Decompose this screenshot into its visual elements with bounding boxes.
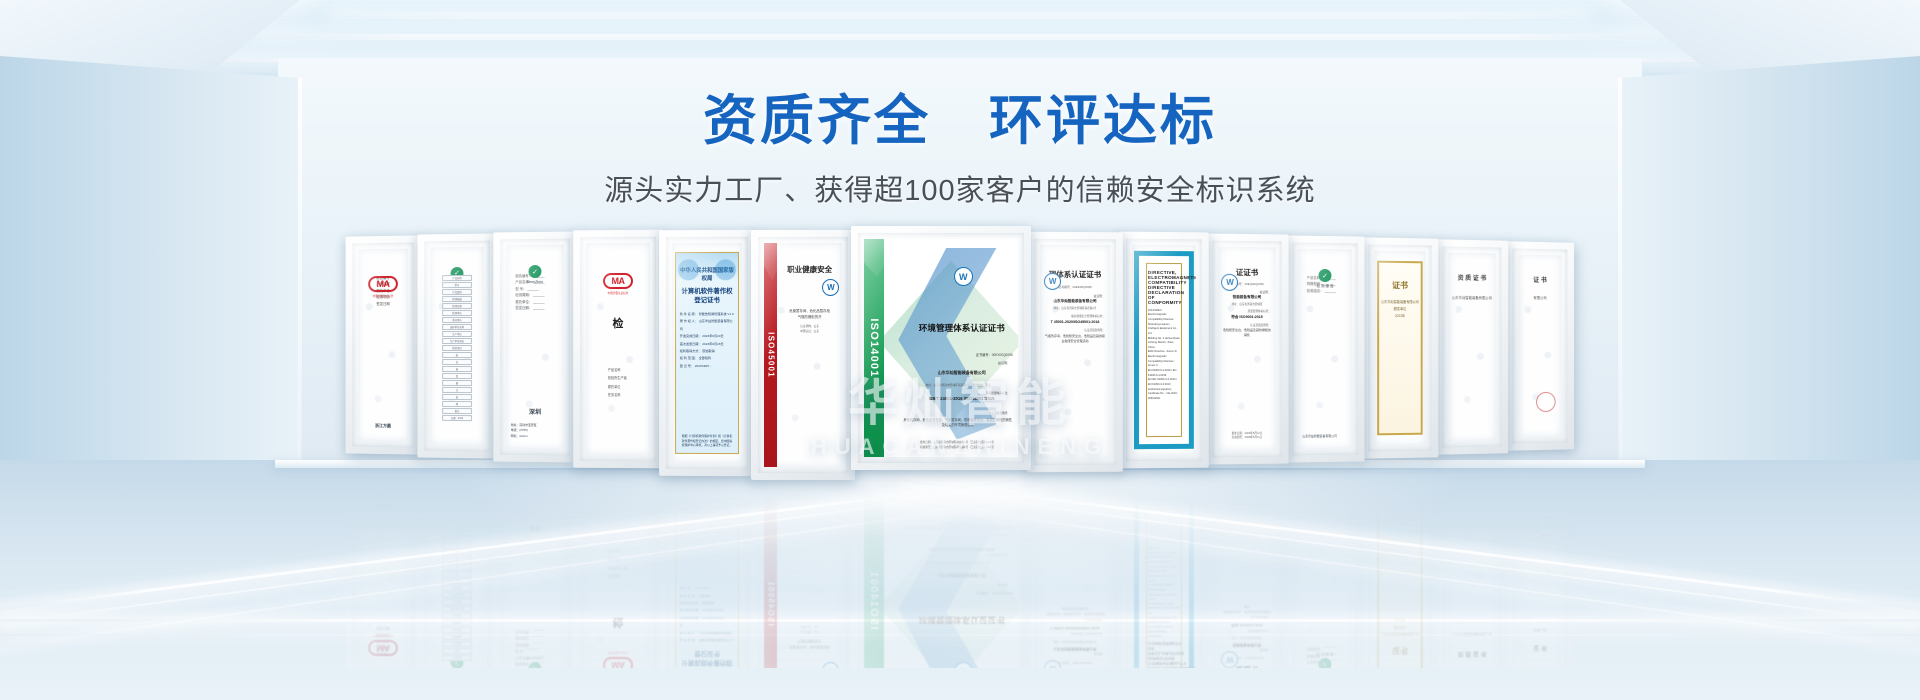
certificate-mat: MA中国计量认证标志报告编号产品名称委托单位检测项目签发日期浙江方圆 xyxy=(352,485,413,690)
table-row: 型号 xyxy=(442,648,472,654)
cert-footer-line: 有效期至：山东省济南市历城区荷花路1号（工业园大道）401 室 xyxy=(903,446,1012,451)
cert-footer-line: 有效期至：山东省济南市历城区荷花路1号（工业园大道）401 室 xyxy=(903,498,1012,503)
cert-footer-lines: 地址：深圳市宝安区电话：(0755)网址：www.s xyxy=(511,501,562,517)
cert-scope-line: 危废暂存间、危化品暂存柜 xyxy=(782,644,837,650)
cert-company: 山东华灿智能装备有限公司 xyxy=(911,370,1013,376)
table-row: 论 xyxy=(442,571,472,577)
certificate-paper: ✓Shenzhen产品名称型号产品类别检测依据检测日期检测单位委托单位送样单位名… xyxy=(430,491,484,690)
ceiling-light-strip-1 xyxy=(330,12,1590,19)
table-row: 说 xyxy=(442,394,472,400)
certificate-mat: ✓ShenZhen报告编号： ______产品名称： ______型 号： __… xyxy=(500,239,570,456)
certificate-frame[interactable]: ✓ShenZhen报告编号： ______产品名称： ______型 号： __… xyxy=(493,232,577,463)
cert-body-lines: 2014/30/EU Electromagnetic Compatibility… xyxy=(1148,544,1180,637)
cert-line: 2023年 xyxy=(1379,616,1421,623)
cert-scope-label: 认证范围及场所： xyxy=(1045,328,1105,332)
table-row: 明 xyxy=(442,401,472,407)
cert-standard-label: 环境管理体系标准： xyxy=(986,391,1010,395)
table-row: 日期：2023 xyxy=(442,515,472,521)
cert-scope-label: 认证范围及场所： xyxy=(1045,618,1105,622)
table-row: 注 xyxy=(442,543,472,549)
headings-block: 资质齐全 环评达标 源头实力工厂、获得超100家客户的信赖安全标识系统 xyxy=(0,92,1920,209)
cert-company: 山东华灿智能装备有限公司 xyxy=(1448,294,1495,299)
cert-line: 山东华灿智能装备有限公司 xyxy=(1379,630,1421,637)
honor-certificate: 证书山东华灿智能装备有限公司颁发单位2023年 xyxy=(1377,260,1423,435)
certificate-mat: MA中国计量认证标志检产品名称检验所生产者委托单位任务名称 xyxy=(580,485,656,700)
cert-body-line: Certificate No. : CE-2023-0069-EMC xyxy=(1148,544,1180,553)
cert-field: 首次发表日期： 2023年6月28日 xyxy=(680,341,734,348)
table-row: 注 xyxy=(442,387,472,393)
certificate-paper: 资 质 证 书山东华灿智能装备有限公司 xyxy=(1448,253,1495,442)
iso-standard-label: ISO45001 xyxy=(766,580,775,626)
certificate-paper: ISO14001W环境管理体系认证证书证书编号：00EX00Q0095兹证明：山… xyxy=(864,239,1018,457)
certification-seal-icon: W xyxy=(822,279,839,296)
certificate-mat: MA中国计量认证标志报告编号产品名称委托单位检测项目签发日期浙江方圆 xyxy=(352,243,413,448)
table-row: 送样单位名称 xyxy=(442,324,472,330)
certificate-mat: 资 质 证 书山东华灿智能装备有限公司 xyxy=(1442,246,1501,447)
certificate-mat: DIRECTIVE,ELECTROMAGNETIC COMPATIBILITY … xyxy=(1126,239,1202,462)
cert-field: 软 件 名 称： 智能告知牌管理系统 V1.0 xyxy=(680,311,734,318)
cert-number: 证书编号：00EX00Q0095 xyxy=(911,352,1013,357)
cert-line: 2023年 xyxy=(1379,312,1421,319)
cert-field: 签发日期： ______ xyxy=(515,305,564,312)
iso-standard-label: ISO45001 xyxy=(766,332,775,378)
certificate-mat: ✓检 测 报 告产品名称： ______规格型号： ______检验结论： __… xyxy=(1292,485,1358,698)
cert-company-label: 兹证明： xyxy=(1045,294,1105,298)
certificate-frame-reflection: MA中国计量认证标志检产品名称检验所生产者委托单位任务名称 xyxy=(573,478,663,700)
cert-scope-line: 气瓶防爆柜的开 xyxy=(782,314,837,320)
cert-standard: GB/T 24001-2016 /ISO14001:2015 xyxy=(911,547,1013,552)
certificate-frame[interactable]: DIRECTIVE,ELECTROMAGNETIC COMPATIBILITY … xyxy=(1119,232,1209,469)
cert-field: 开发完成日期： 2023年6月20日 xyxy=(680,613,734,620)
cert-field: 产品名称 xyxy=(608,366,646,374)
cert-company-label: 兹证明： xyxy=(998,361,1010,365)
certificate-frame[interactable]: 资 质 证 书山东华灿智能装备有限公司 xyxy=(1435,239,1508,454)
cert-org: ShenZhen xyxy=(527,656,544,660)
certificate-frame-reflection: ISO45001W职业健康安全兹证明危废暂存间、危化品暂存柜气瓶防爆柜的开认证机… xyxy=(751,478,855,700)
cert-standard-label: 质量管理体系标准： xyxy=(1223,629,1271,633)
cert-scope: 危废暂存间、危化品暂存柜气瓶防爆柜的开 xyxy=(782,308,837,320)
cert-footer-line: 山东华灿智能装备有限公司 xyxy=(1302,501,1349,507)
cert-field: 权利取得方式： 原始取得 xyxy=(680,348,734,355)
cert-company-label: 兹证明： xyxy=(1045,652,1105,656)
cert-scope-label: 认证范围及场所： xyxy=(988,533,1010,537)
cert-footer-line: 网址：www.s xyxy=(511,501,562,507)
cert-address: 地址：山东省济南市历城区荷花路1号 / 注册地址：同上 xyxy=(905,383,1011,387)
cert-footer-line: 认证机构：山东 xyxy=(782,629,837,634)
accreditation-badge-icon: ✓ xyxy=(1319,269,1332,282)
cert-field: 委托单位 xyxy=(608,555,646,563)
certificate-mat: W理体系认证证书证书编号：00ED00Q0095兹证明：山东华灿智能装备有限公司… xyxy=(1034,239,1116,465)
table-row: 备注 xyxy=(442,408,472,414)
cert-body: W证证书证书编号：00EQ00Q0095兹证明：智能装备有限公司地址：山东省济南… xyxy=(1218,247,1276,452)
cert-company: 山东华灿智能装备有限公司 xyxy=(1448,632,1495,637)
certificate-frame[interactable]: MA中国计量认证标志报告编号产品名称委托单位检测项目签发日期浙江方圆 xyxy=(346,235,421,454)
cert-footer-lines: 地址：深圳市宝安区电话：(0755)网址：www.s xyxy=(511,423,562,439)
table-row: 产品类别 xyxy=(442,289,472,295)
cert-scope-label: 认证范围及场所： xyxy=(988,411,1010,415)
title-part-1: 资质齐全 xyxy=(703,91,931,151)
cert-footer-line: 批准日期：山东省济南市历城区荷花路1号（工业园大道）401 室 xyxy=(903,502,1012,507)
cert-body-line: EN IEC 61000-3-2:2019 / EN 61000-3-3:201… xyxy=(1148,378,1180,387)
ma-mark-icon: MA xyxy=(368,640,398,656)
cert-footer-line: 中国认证：山东 xyxy=(782,624,837,629)
cert-footer: 根据《计算机软件保护条例》和《计算机软件著作权登记办法》的规定，经中国版权保护中… xyxy=(682,434,732,448)
cert-body-line: Shandong Huacan Intelligent Equipment Co… xyxy=(1148,609,1180,623)
certificate-mat: ✓Shenzhen产品名称型号产品类别检测依据检测日期检测单位委托单位送样单位名… xyxy=(424,241,490,452)
table-row: 见 xyxy=(442,373,472,379)
cert-field: 检验所生产者 xyxy=(608,374,646,382)
cert-title: 证书 xyxy=(1379,645,1421,656)
certificate-paper: 中华人民共和国国家版权局计算机软件著作权登记证书软 件 名 称： 智能告知牌管理… xyxy=(672,243,742,463)
certificate-paper: ✓检 测 报 告产品名称： ______规格型号： ______检验结论： __… xyxy=(1298,491,1352,692)
cert-footer-lines: 山东华灿智能装备有限公司 xyxy=(1302,434,1349,440)
cert-footer: 根据《计算机软件保护条例》和《计算机软件著作权登记办法》的规定，经中国版权保护中… xyxy=(682,506,732,520)
cert-footer-line: 地址：深圳市宝安区 xyxy=(511,511,562,517)
cert-footer-line: 有效期至：2026年5月11日 xyxy=(1222,436,1273,441)
cert-body-line: Building No. 1 Hehua Road, Licheng Distr… xyxy=(1148,336,1180,350)
cert-body: DIRECTIVE,ELECTROMAGNETIC COMPATIBILITY … xyxy=(1143,544,1185,686)
cert-title: 检 xyxy=(586,615,650,631)
ce-declaration: DIRECTIVE,ELECTROMAGNETIC COMPATIBILITY … xyxy=(1134,497,1194,695)
cert-body: W理体系认证证书证书编号：00ED00Q0095兹证明：山东华灿智能装备有限公司… xyxy=(1040,245,1110,459)
cert-address: 地址：山东省济南市历城区荷花路1号 xyxy=(1045,306,1105,310)
cert-company: 山东华灿智能装备有限公司 xyxy=(1045,299,1105,304)
certificate-frame-reflection: 证书山东华灿智能装备有限公司颁发单位2023年 xyxy=(1361,477,1438,698)
certificate-paper: ✓检 测 报 告产品名称： ______规格型号： ______检验结论： __… xyxy=(1298,249,1352,450)
cert-title-line-1: DIRECTIVE, xyxy=(1148,269,1180,274)
certificate-paper: ✓Shenzhen产品名称型号产品类别检测依据检测日期检测单位委托单位送样单位名… xyxy=(430,247,484,446)
cert-footer: 批准日期：山东省济南市历城区荷花路1号（工业园大道）401 室有效期至：山东省济… xyxy=(903,498,1012,507)
certificate-frame[interactable]: 证 书有限公司 xyxy=(1505,241,1574,451)
certificate-paper: 证书山东华灿智能装备有限公司颁发单位2023年 xyxy=(1374,491,1425,686)
ceiling-light-strip-2 xyxy=(240,34,1680,40)
cert-field: 开发完成日期： 2023年6月20日 xyxy=(680,333,734,340)
iso-standard-label: ISO14001 xyxy=(868,318,880,377)
cert-scope-line: 危废暂存间、危化品暂存柜 xyxy=(782,308,837,314)
cert-scope: 危险柜安全台、危险品及其防爆柜的销售 xyxy=(1223,328,1271,338)
cert-title: 证 书 xyxy=(1518,275,1561,285)
ma-mark-icon: MA xyxy=(368,276,398,292)
cert-line: 山东华灿智能装备有限公司 xyxy=(1379,298,1421,305)
cert-field: 检验所生产者 xyxy=(608,563,646,571)
certificate-mat: 证书山东华灿智能装备有限公司颁发单位2023年 xyxy=(1368,484,1431,691)
table-row: 检验项目 xyxy=(442,585,472,591)
table-row: 论 xyxy=(442,359,472,365)
ceiling-inset xyxy=(190,0,1730,62)
cert-field: 签发日期： ______ xyxy=(515,628,564,635)
cert-field: 签发日期 xyxy=(358,301,408,308)
certificate-frame[interactable]: 中华人民共和国国家版权局计算机软件著作权登记证书软 件 名 称： 智能告知牌管理… xyxy=(659,230,755,476)
copyright-certificate: 中华人民共和国国家版权局计算机软件著作权登记证书软 件 名 称： 智能告知牌管理… xyxy=(675,252,739,455)
iso-standard-label: ISO14001 xyxy=(868,570,880,629)
red-seal-stamp-icon xyxy=(1536,516,1556,536)
cert-scope: 危废暂存间、危化品暂存柜、气瓶暂存间、防爆柜安全台、智能防爆柜的销售及相关的环境… xyxy=(903,519,1013,530)
table-row: 明 xyxy=(442,529,472,535)
cert-footer: 浙江方圆 xyxy=(358,423,408,430)
cert-scope: 气瓶暂存间、危险柜安全台、危险品及其的职业健康安全管理活动 xyxy=(1045,334,1105,344)
certificate-paper: W证证书证书编号：00EQ00Q0095兹证明：智能装备有限公司地址：山东省济南… xyxy=(1218,247,1276,452)
table-row: 产品类别 xyxy=(442,641,472,647)
cert-field: 权利取得方式： 原始取得 xyxy=(680,599,734,606)
table-row: 意 xyxy=(442,564,472,570)
page-subtitle: 源头实力工厂、获得超100家客户的信赖安全标识系统 xyxy=(0,167,1920,209)
cert-footer: 认证机构：山东中国认证：山东 xyxy=(782,624,837,634)
cert-address: 地址：山东省济南市历城区 xyxy=(1223,302,1271,306)
cert-title-line-2: ELECTROMAGNETIC COMPATIBILITY DIRECTIVE xyxy=(1148,274,1180,289)
cert-body-line: Certificate No. : CE-2023-0069-EMC xyxy=(1148,392,1180,401)
cert-field-list: 软 件 名 称： 智能告知牌管理系统 V1.0著 作 权 人： 山东华灿智能装备… xyxy=(680,584,734,643)
cert-field: 权 利 范 围： 全部权利 xyxy=(680,355,734,362)
table-row: 见 xyxy=(442,557,472,563)
cert-field: 软 件 名 称： 智能告知牌管理系统 V1.0 xyxy=(680,636,734,643)
table-row: 检测依据 xyxy=(442,296,472,302)
certificate-frame[interactable]: ✓Shenzhen产品名称型号产品类别检测依据检测日期检测单位委托单位送样单位名… xyxy=(417,233,497,458)
cert-standard-label: 环境管理体系标准： xyxy=(986,554,1010,558)
cert-lines: 山东华灿智能装备有限公司颁发单位2023年 xyxy=(1379,298,1421,319)
certificate-mat: W证证书证书编号：00EQ00Q0095兹证明：智能装备有限公司地址：山东省济南… xyxy=(1212,241,1282,458)
cert-footer-line: 网址：www.s xyxy=(511,433,562,439)
table-row: 检验项目 xyxy=(442,345,472,351)
table-row: 生产单位 xyxy=(442,599,472,605)
ma-mark-icon: MA xyxy=(603,273,633,289)
table-row: 检测日期 xyxy=(442,627,472,633)
cert-title: 证书 xyxy=(1379,280,1421,291)
cert-standard: T 45001-2020/ISO45001:2018 xyxy=(1045,626,1105,630)
cert-footer: 认证机构：山东中国认证：山东 xyxy=(782,324,837,334)
cert-title: 环境管理体系认证证书 xyxy=(911,614,1013,626)
cert-body-line: Shandong Huacan Intelligent Equipment Co… xyxy=(1148,323,1180,337)
cert-field-list: 产品名称检验所生产者委托单位任务名称 xyxy=(608,547,646,580)
cert-title: 职业健康安全 xyxy=(782,264,837,275)
cert-org: 检 测 报 告 xyxy=(1316,651,1333,656)
cert-field: 任务名称 xyxy=(608,391,646,399)
certification-seal-icon: W xyxy=(1222,273,1239,290)
cert-body-line: Authorised signatory xyxy=(1148,554,1180,559)
honor-certificate: 证书山东华灿智能装备有限公司颁发单位2023年 xyxy=(1377,500,1423,675)
cert-company: 山东华灿智能装备有限公司 xyxy=(911,572,1013,578)
certificate-frame[interactable]: W理体系认证证书证书编号：00ED00Q0095兹证明：山东华灿智能装备有限公司… xyxy=(1027,232,1123,473)
table-row: 备注 xyxy=(442,522,472,528)
table-row: 检测日期 xyxy=(442,303,472,309)
cert-field: 产品名称 xyxy=(608,572,646,580)
ma-mark-caption: 中国计量认证标志 xyxy=(608,651,629,655)
certificate-mat: DIRECTIVE,ELECTROMAGNETIC COMPATIBILITY … xyxy=(1126,485,1202,700)
cert-standard: 符合 ISO9001:2015 xyxy=(1223,315,1271,320)
cert-body-line: Electromagnetic Compatibility Directive … xyxy=(1148,577,1180,591)
cert-body-line: EN 61000-6-2:2019 / EN 61000-6-4:2019 xyxy=(1148,568,1180,577)
cert-address: 地址：山东省济南市历城区荷花路1号 xyxy=(1045,640,1105,644)
cert-company: 有限公司 xyxy=(1518,628,1561,633)
cert-field: 签发日期 xyxy=(358,625,408,632)
certificate-mat: ISO14001W环境管理体系认证证书证书编号：00EX00Q0095兹证明：山… xyxy=(858,485,1024,700)
certificate-frame[interactable]: ISO14001W环境管理体系认证证书证书编号：00EX00Q0095兹证明：山… xyxy=(851,226,1031,470)
cert-body-line: 2014/30/EU Electromagnetic Compatibility… xyxy=(1148,309,1180,323)
certificate-mat: ISO45001W职业健康安全兹证明危废暂存间、危化品暂存柜气瓶防爆柜的开认证机… xyxy=(758,485,848,700)
banner-stage: 资质齐全 环评达标 源头实力工厂、获得超100家客户的信赖安全标识系统 MA中国… xyxy=(0,0,1920,700)
cert-body: W证证书证书编号：00EQ00Q0095兹证明：智能装备有限公司地址：山东省济南… xyxy=(1218,491,1276,696)
table-row: 备 xyxy=(442,550,472,556)
ce-declaration: DIRECTIVE,ELECTROMAGNETIC COMPATIBILITY … xyxy=(1134,251,1194,449)
certificate-paper: W证证书证书编号：00EQ00Q0095兹证明：智能装备有限公司地址：山东省济南… xyxy=(1218,491,1276,696)
accreditation-badge-icon: ✓ xyxy=(529,265,542,278)
certificate-mat: ISO14001W环境管理体系认证证书证书编号：00EX00Q0095兹证明：山… xyxy=(858,233,1024,463)
certificate-paper: 证 书有限公司 xyxy=(1518,491,1561,674)
cert-company-label: 兹证明： xyxy=(998,583,1010,587)
table-row: 检测依据 xyxy=(442,634,472,640)
cert-field: 著 作 权 人： 山东华灿智能装备有限公司 xyxy=(680,318,734,333)
title-part-2: 环评达标 xyxy=(989,91,1217,151)
table-row: 产品名称 xyxy=(442,655,472,661)
cert-body: W环境管理体系认证证书证书编号：00EX00Q0095兹证明：山东华灿智能装备有… xyxy=(884,239,1018,457)
cert-scope: 气瓶暂存间、危险柜安全台、危险品及其的职业健康安全管理活动 xyxy=(1045,606,1105,616)
cert-body-line: Electromagnetic Compatibility Directive … xyxy=(1148,355,1180,369)
certificate-frame[interactable]: MA中国计量认证标志检产品名称检验所生产者委托单位任务名称 xyxy=(573,230,663,469)
cert-title: 计算机软件著作权登记证书 xyxy=(680,286,734,304)
cert-body-line: EN IEC 61000-3-2:2019 / EN 61000-3-3:201… xyxy=(1148,558,1180,567)
table-row: 生产单位地址 xyxy=(442,338,472,344)
certificate-paper: MA中国计量认证标志报告编号产品名称委托单位检测项目签发日期浙江方圆 xyxy=(358,249,408,442)
certificate-paper: ISO45001W职业健康安全兹证明危废暂存间、危化品暂存柜气瓶防爆柜的开认证机… xyxy=(764,243,842,467)
cert-standard-label: 职业健康安全管理体系标准： xyxy=(1045,632,1105,636)
cert-standard-label: 质量管理体系标准： xyxy=(1223,309,1271,313)
certificate-frame-reflection: 证 书有限公司 xyxy=(1505,477,1574,687)
cert-footer-title: 深圳 xyxy=(506,407,564,416)
cert-field-list: 软 件 名 称： 智能告知牌管理系统 V1.0著 作 权 人： 山东华灿智能装备… xyxy=(680,311,734,370)
certificate-mat: 资 质 证 书山东华灿智能装备有限公司 xyxy=(1442,484,1501,685)
certificate-frame-reflection: MA中国计量认证标志报告编号产品名称委托单位检测项目签发日期浙江方圆 xyxy=(346,477,421,696)
cert-scope-label: 认证范围及场所： xyxy=(1223,323,1271,327)
certificate-paper: 证书山东华灿智能装备有限公司颁发单位2023年 xyxy=(1374,251,1425,446)
table-row: 委托单位 xyxy=(442,317,472,323)
certificate-frame-reflection: DIRECTIVE,ELECTROMAGNETIC COMPATIBILITY … xyxy=(1119,478,1209,700)
certificate-paper: W理体系认证证书证书编号：00ED00Q0095兹证明：山东华灿智能装备有限公司… xyxy=(1040,245,1110,459)
cert-scope: 危险柜安全台、危险品及其防爆柜的销售 xyxy=(1223,604,1271,614)
certificate-paper: 资 质 证 书山东华灿智能装备有限公司 xyxy=(1448,491,1495,680)
table-row: 生产单位地址 xyxy=(442,592,472,598)
iso-spine: ISO14001 xyxy=(864,239,884,457)
certificate-gallery: MA中国计量认证标志报告编号产品名称委托单位检测项目签发日期浙江方圆✓Shenz… xyxy=(290,230,1630,480)
cert-body: W职业健康安全兹证明危废暂存间、危化品暂存柜气瓶防爆柜的开认证机构：山东中国认证… xyxy=(777,243,842,467)
cert-body-line: Building No. 1 Hehua Road, Licheng Distr… xyxy=(1148,596,1180,610)
certificate-mat: 中华人民共和国国家版权局计算机软件著作权登记证书软 件 名 称： 智能告知牌管理… xyxy=(666,485,748,700)
cert-footer-line: 电话：(0755) xyxy=(511,506,562,512)
certificate-mat: 中华人民共和国国家版权局计算机软件著作权登记证书软 件 名 称： 智能告知牌管理… xyxy=(666,237,748,469)
cert-title-line-3: DECLARATION OF CONFORMITY xyxy=(1148,290,1180,305)
table-row: 送样单位名称 xyxy=(442,606,472,612)
cert-body-lines: 2014/30/EU Electromagnetic Compatibility… xyxy=(1148,309,1180,402)
certificate-frame-reflection: ✓Shenzhen产品名称型号产品类别检测依据检测日期检测单位委托单位送样单位名… xyxy=(417,477,497,700)
cert-title: 检 xyxy=(586,315,650,331)
red-seal-stamp-icon xyxy=(1536,391,1556,411)
cert-org: 检 测 报 告 xyxy=(1316,284,1333,289)
cert-title: 证 书 xyxy=(1518,643,1561,653)
table-row: 说 xyxy=(442,536,472,542)
certificate-paper: ✓ShenZhen报告编号： ______产品名称： ______型 号： __… xyxy=(506,245,564,450)
cert-standard: 符合 ISO9001:2015 xyxy=(1223,622,1271,627)
certificate-mat: 证 书有限公司 xyxy=(1512,248,1567,443)
cert-lines: 山东华灿智能装备有限公司颁发单位2023年 xyxy=(1379,616,1421,637)
cert-field-list: 产品名称检验所生产者委托单位任务名称 xyxy=(608,366,646,399)
cert-field-list: 报告编号： ______产品名称： ______型 号： ______检测周期：… xyxy=(506,273,564,312)
table-row: 生产单位 xyxy=(442,331,472,337)
cert-field: 登 记 号： 2023SR07... xyxy=(680,584,734,591)
cert-footer-title: 深圳 xyxy=(506,523,564,532)
certificate-frame-reflection: ✓ShenZhen报告编号： ______产品名称： ______型 号： __… xyxy=(493,478,577,700)
certificate-frame[interactable]: 证书山东华灿智能装备有限公司颁发单位2023年 xyxy=(1361,237,1438,458)
cert-standard: T 45001-2020/ISO45001:2018 xyxy=(1045,320,1105,324)
cert-body-line: 2014/30/EU Electromagnetic Compatibility… xyxy=(1148,623,1180,637)
cert-address: 地址：山东省济南市历城区 xyxy=(1223,636,1271,640)
table-row: 意 xyxy=(442,366,472,372)
certificate-gallery-reflection: MA中国计量认证标志报告编号产品名称委托单位检测项目签发日期浙江方圆✓Shenz… xyxy=(290,478,1630,668)
ornament-band xyxy=(676,253,738,281)
cert-parameter-table: 产品名称型号产品类别检测依据检测日期检测单位委托单位送样单位名称生产单位生产单位… xyxy=(442,275,472,414)
certificate-paper: ✓ShenZhen报告编号： ______产品名称： ______型 号： __… xyxy=(506,491,564,696)
cert-footer-line: 中国认证：山东 xyxy=(782,329,837,334)
table-row: 备 xyxy=(442,380,472,386)
certificate-frame[interactable]: W证证书证书编号：00EQ00Q0095兹证明：智能装备有限公司地址：山东省济南… xyxy=(1205,234,1289,465)
certificate-frame[interactable]: ISO45001W职业健康安全兹证明危废暂存间、危化品暂存柜气瓶防爆柜的开认证机… xyxy=(751,230,855,480)
cert-company: 有限公司 xyxy=(1518,295,1561,300)
cert-footer-lines: 山东华灿智能装备有限公司 xyxy=(1302,501,1349,507)
certificate-frame-reflection: W理体系认证证书证书编号：00ED00Q0095兹证明：山东华灿智能装备有限公司… xyxy=(1027,478,1123,700)
iso-spine: ISO45001 xyxy=(764,243,777,467)
cert-org: ShenZhen xyxy=(527,280,544,284)
cert-company: 智能装备有限公司 xyxy=(1223,295,1271,300)
cert-company: 智能装备有限公司 xyxy=(1223,641,1271,646)
table-row: 结 xyxy=(442,578,472,584)
certificate-frame-reflection: W证证书证书编号：00EQ00Q0095兹证明：智能装备有限公司地址：山东省济南… xyxy=(1205,478,1289,700)
table-row: 产品名称 xyxy=(442,275,472,281)
certificate-mat: ISO45001W职业健康安全兹证明危废暂存间、危化品暂存柜气瓶防爆柜的开认证机… xyxy=(758,237,848,473)
cert-field: 登 记 号： 2023SR07... xyxy=(680,363,734,370)
certificate-frame[interactable]: ✓检 测 报 告产品名称： ______规格型号： ______检验结论： __… xyxy=(1285,235,1364,462)
certificate-paper: DIRECTIVE,ELECTROMAGNETIC COMPATIBILITY … xyxy=(1132,245,1196,456)
cert-number: 证书编号：00EX00Q0095 xyxy=(911,591,1013,596)
cert-field: 著 作 权 人： 山东华灿智能装备有限公司 xyxy=(680,621,734,636)
cert-body: DIRECTIVE,ELECTROMAGNETIC COMPATIBILITY … xyxy=(1143,260,1185,402)
cert-footer-line: 有效期至：2026年5月11日 xyxy=(1222,501,1273,506)
cert-body-line: EMC Directive : Annex III xyxy=(1148,591,1180,596)
cert-footer: 批准日期：2023年5月12日有效期至：2026年5月11日 xyxy=(1222,431,1273,441)
certificate-frame-reflection: ✓检 测 报 告产品名称： ______规格型号： ______检验结论： __… xyxy=(1285,477,1364,700)
cert-title: 资 质 证 书 xyxy=(1448,273,1495,283)
cert-address: 地址：山东省济南市历城区荷花路1号 / 注册地址：同上 xyxy=(905,561,1011,565)
certificate-frame-reflection: 中华人民共和国国家版权局计算机软件著作权登记证书软 件 名 称： 智能告知牌管理… xyxy=(659,478,755,700)
ma-mark-caption: 中国计量认证标志 xyxy=(373,294,394,298)
cert-field: 任务名称 xyxy=(608,547,646,555)
cert-title: 计算机软件著作权登记证书 xyxy=(680,650,734,668)
cert-scope: 危废暂存间、危化品暂存柜气瓶防爆柜的开 xyxy=(782,638,837,650)
certificate-mat: W证证书证书编号：00EQ00Q0095兹证明：智能装备有限公司地址：山东省济南… xyxy=(1212,485,1282,700)
certificate-mat: MA中国计量认证标志检产品名称检验所生产者委托单位任务名称 xyxy=(580,237,656,462)
table-row: 检测单位 xyxy=(442,310,472,316)
cert-footer: 批准日期：山东省济南市历城区荷花路1号（工业园大道）401 室有效期至：山东省济… xyxy=(903,441,1012,450)
cert-scope-label: 认证范围及场所： xyxy=(1223,615,1271,619)
table-row: 检测单位 xyxy=(442,620,472,626)
table-row: 委托单位 xyxy=(442,613,472,619)
certificate-mat: ✓ShenZhen报告编号： ______产品名称： ______型 号： __… xyxy=(500,485,570,700)
cert-standard: GB/T 24001-2016 /ISO14001:2015 xyxy=(911,396,1013,401)
certificate-paper: 证 书有限公司 xyxy=(1518,255,1561,438)
table-row: 结 xyxy=(442,352,472,358)
cert-company-label: 兹证明： xyxy=(1223,290,1271,294)
cert-scope: 危废暂存间、危化品暂存柜、气瓶暂存间、防爆柜安全台、智能防爆柜的销售及相关的环境… xyxy=(903,418,1013,429)
certificate-mat: ✓检 测 报 告产品名称： ______规格型号： ______检验结论： __… xyxy=(1292,243,1358,456)
certification-seal-icon: W xyxy=(954,267,973,286)
cert-footer-line: 山东华灿智能装备有限公司 xyxy=(1302,434,1349,440)
ma-mark-caption: 中国计量认证标志 xyxy=(608,291,629,295)
